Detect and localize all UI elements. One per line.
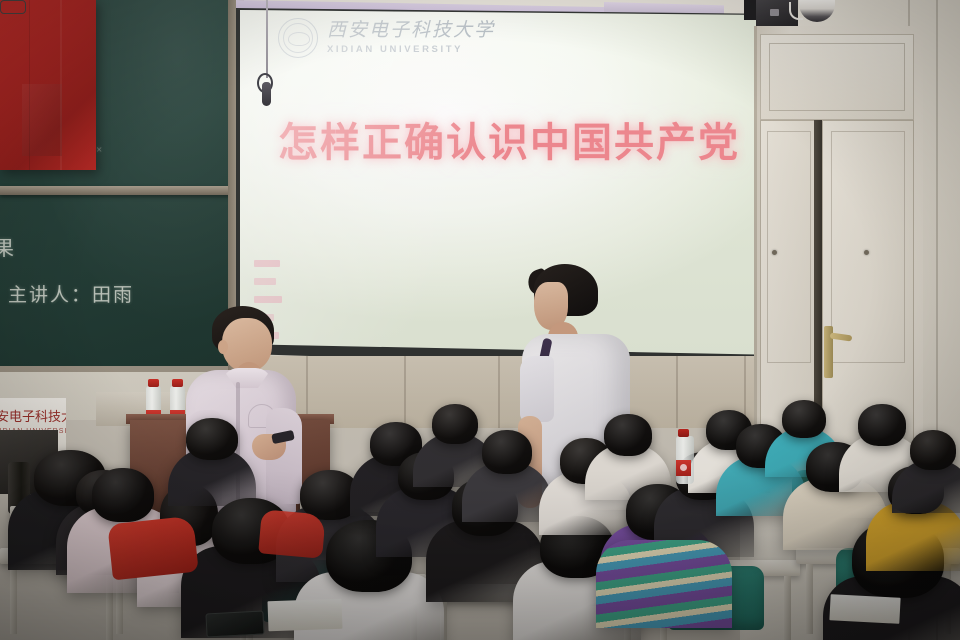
open-notebook[interactable] <box>829 594 900 624</box>
striped-shirt <box>596 540 732 628</box>
desk-leg <box>784 576 791 640</box>
desk-leg <box>806 564 813 634</box>
audience-member-head <box>92 468 154 522</box>
audience-member-head <box>910 430 956 470</box>
audience-member-head <box>482 430 532 474</box>
door-screw <box>864 250 869 255</box>
slide-logo: 西安电子科技大学 XIDIAN UNIVERSITY <box>278 18 495 58</box>
chalk-mark: × <box>96 144 104 156</box>
red-jacket-on-chair <box>107 516 198 581</box>
speaker-side-box <box>744 0 756 20</box>
audience-member-head <box>782 400 826 438</box>
door-center-gap <box>814 120 822 444</box>
deco-bar <box>254 296 282 303</box>
chalk-text-line-1: 果 <box>0 232 16 261</box>
water-bottle[interactable] <box>676 436 694 484</box>
wall-banner-cn: 安电子科技大学 <box>0 406 66 425</box>
door-right-leaf[interactable] <box>822 120 914 446</box>
audience-member-head <box>432 404 478 444</box>
student-glasses-icon <box>0 0 26 14</box>
speaker-led-icon <box>770 9 779 16</box>
screen-glare <box>240 10 756 358</box>
chalk-text-line-2: 主讲人：田雨 <box>8 280 134 307</box>
audience-member-head <box>858 404 906 446</box>
bottle-cap <box>148 379 159 387</box>
deco-bar <box>254 260 280 267</box>
lecturer-ear <box>218 340 228 354</box>
logo-english-name: XIDIAN UNIVERSITY <box>327 45 495 55</box>
flag-fold <box>22 84 62 156</box>
chalk-rail <box>0 186 236 195</box>
door-transom-panel <box>760 34 914 120</box>
smartphone-on-desk[interactable] <box>205 610 264 637</box>
red-banner-flag <box>0 0 96 170</box>
deco-bar <box>254 278 276 285</box>
door-left-leaf[interactable] <box>760 120 818 446</box>
slide-title: 怎样正确认识中国共产党 <box>278 110 718 168</box>
door-screw <box>772 250 777 255</box>
microphone-cable <box>266 0 268 78</box>
logo-text-block: 西安电子科技大学 XIDIAN UNIVERSITY <box>327 21 495 55</box>
desk-leg <box>10 564 17 634</box>
standing-student <box>0 0 26 14</box>
audience-member-head <box>604 414 652 456</box>
university-seal-icon <box>278 18 318 58</box>
hanging-microphone <box>262 82 271 106</box>
student-sleeve <box>520 356 554 422</box>
lecture-hall-photo: 果 主讲人：田雨 × 安电子科技大学 XIDIAN UNIVERSITY 西安电… <box>0 0 960 640</box>
blackboard-frame: 果 主讲人：田雨 × <box>0 0 244 372</box>
audience-member-head <box>186 418 238 460</box>
open-notebook[interactable] <box>267 599 342 632</box>
logo-chinese-name: 西安电子科技大学 <box>327 21 495 40</box>
bottle-cap <box>172 379 183 387</box>
projection-screen: 西安电子科技大学 XIDIAN UNIVERSITY 怎样正确认识中国共产党 <box>240 10 756 358</box>
red-jacket-on-chair <box>258 509 326 558</box>
